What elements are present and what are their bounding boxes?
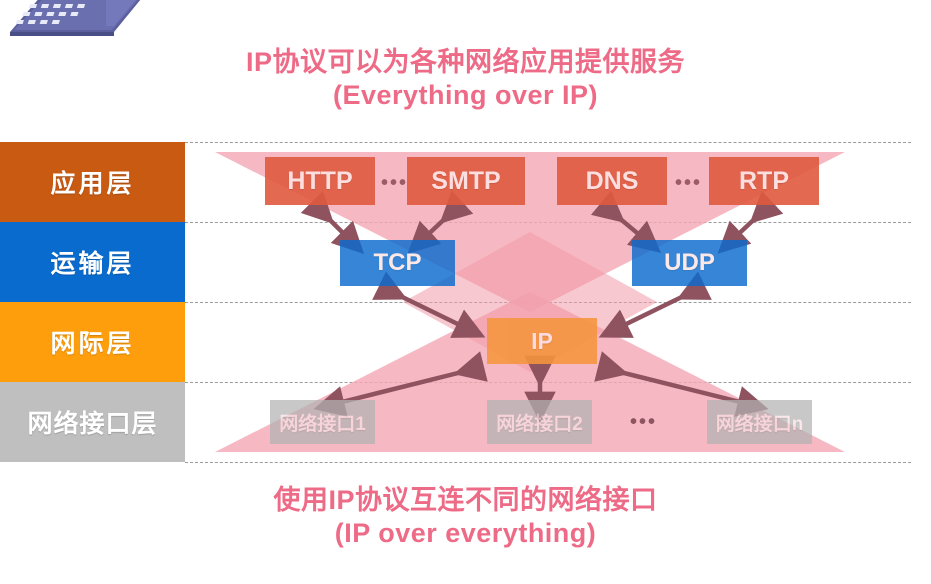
protocol-box-ip[interactable]: IP — [487, 318, 597, 364]
protocol-box-udp[interactable]: UDP — [632, 240, 747, 286]
slide-canvas: IP协议可以为各种网络应用提供服务 (Everything over IP) — [0, 0, 931, 584]
ellipsis-application-1: ••• — [381, 173, 408, 193]
bottom-caption-line2: (IP over everything) — [0, 517, 931, 550]
sidebar-item-transport-layer[interactable]: 运输层 — [0, 222, 185, 302]
layer-label-transport: 运输层 — [50, 244, 134, 280]
protocol-box-tcp[interactable]: TCP — [340, 240, 455, 286]
sidebar-item-internet-layer[interactable]: 网际层 — [0, 302, 185, 382]
protocol-box-smtp[interactable]: SMTP — [407, 157, 525, 205]
protocol-box-dns[interactable]: DNS — [557, 157, 667, 205]
layer-label-network-interface: 网络接口层 — [27, 404, 157, 440]
protocol-box-http[interactable]: HTTP — [265, 157, 375, 205]
sidebar-item-application-layer[interactable]: 应用层 — [0, 142, 185, 222]
sidebar-item-network-interface-layer[interactable]: 网络接口层 — [0, 382, 185, 462]
protocol-box-rtp[interactable]: RTP — [709, 157, 819, 205]
bottom-caption-line1: 使用IP协议互连不同的网络接口 — [0, 484, 931, 517]
network-interface-box-1[interactable]: 网络接口1 — [270, 400, 375, 444]
layer-label-internet: 网际层 — [50, 324, 134, 360]
network-interface-box-2[interactable]: 网络接口2 — [487, 400, 592, 444]
ellipsis-application-2: ••• — [675, 173, 702, 193]
network-interface-box-n[interactable]: 网络接口n — [707, 400, 812, 444]
bottom-caption: 使用IP协议互连不同的网络接口 (IP over everything) — [0, 484, 931, 550]
ellipsis-network-interface: ••• — [630, 412, 657, 432]
layer-label-application: 应用层 — [50, 164, 134, 200]
